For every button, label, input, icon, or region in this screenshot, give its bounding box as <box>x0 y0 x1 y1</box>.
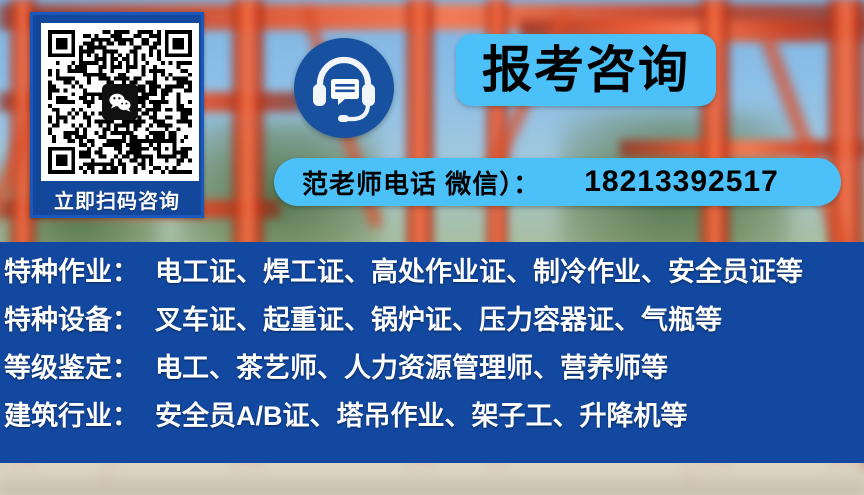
title-text: 报考咨询 <box>482 45 690 95</box>
list-row: 特种设备： 叉车证、起重证、锅炉证、压力容器证、气瓶等 <box>0 298 864 346</box>
list-row-items: 叉车证、起重证、锅炉证、压力容器证、气瓶等 <box>155 298 722 337</box>
certificate-list-panel: 特种作业： 电工证、焊工证、高处作业证、制冷作业、安全员证等 特种设备： 叉车证… <box>0 242 864 463</box>
list-row: 等级鉴定： 电工、茶艺师、人力资源管理师、营养师等 <box>0 346 864 394</box>
list-row-category: 特种设备： <box>4 298 139 337</box>
promo-poster: 立即扫码咨询 报考咨询 范老师电话 微信）： 18213392517 特 <box>0 0 864 495</box>
list-row: 特种作业： 电工证、焊工证、高处作业证、制冷作业、安全员证等 <box>0 250 864 298</box>
qr-caption: 立即扫码咨询 <box>41 185 193 219</box>
list-row-items: 安全员A/B证、塔吊作业、架子工、升降机等 <box>155 394 688 433</box>
phone-label: 范老师电话 微信）： <box>302 164 540 201</box>
list-row-category: 等级鉴定： <box>4 346 139 385</box>
qr-card[interactable]: 立即扫码咨询 <box>30 12 204 218</box>
list-row-category: 建筑行业： <box>4 394 139 433</box>
qr-code[interactable] <box>41 23 199 181</box>
list-row-category: 特种作业： <box>4 250 139 289</box>
phone-number[interactable]: 18213392517 <box>584 165 779 199</box>
list-row: 建筑行业： 安全员A/B证、塔吊作业、架子工、升降机等 <box>0 394 864 442</box>
wechat-icon <box>102 84 138 120</box>
title-pill[interactable]: 报考咨询 <box>456 34 716 106</box>
phone-pill[interactable]: 范老师电话 微信）： 18213392517 <box>274 158 841 206</box>
list-row-items: 电工、茶艺师、人力资源管理师、营养师等 <box>155 346 668 385</box>
list-row-items: 电工证、焊工证、高处作业证、制冷作业、安全员证等 <box>155 250 803 289</box>
headset-support-icon[interactable] <box>294 38 394 138</box>
